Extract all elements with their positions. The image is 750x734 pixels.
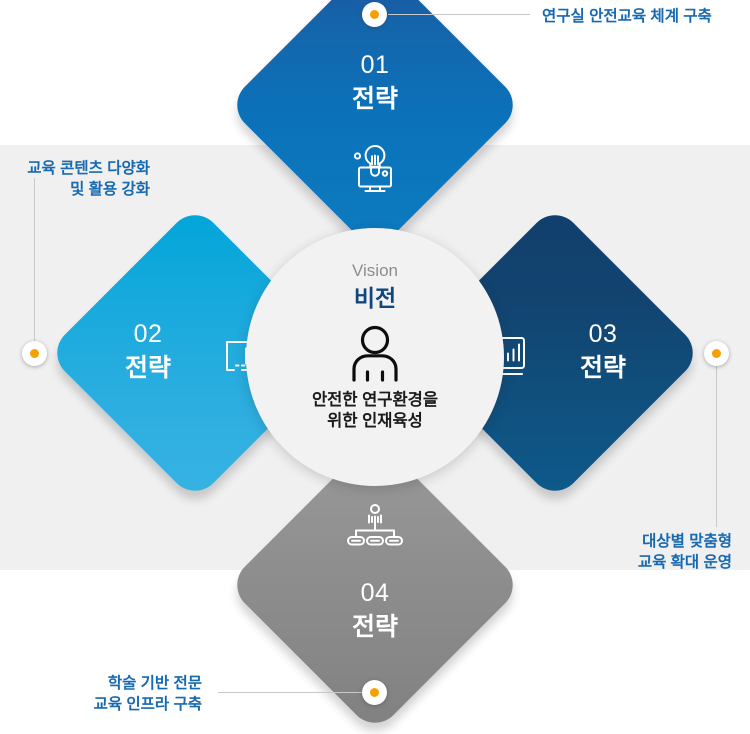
callout-02-line2: 및 활용 강화 bbox=[18, 179, 150, 200]
person-icon bbox=[347, 324, 403, 384]
callout-strategy-01: 연구실 안전교육 체계 구축 bbox=[542, 6, 712, 27]
vision-description-line2: 위한 인재육성 bbox=[312, 411, 438, 432]
connector-line-04 bbox=[218, 692, 366, 693]
connector-line-02 bbox=[34, 178, 35, 346]
strategy-diamond-04[interactable]: 04 전략 bbox=[270, 480, 480, 690]
vision-description: 안전한 연구환경을 위한 인재육성 bbox=[312, 390, 438, 432]
strategy-diagram: 01 전략 02 전략 bbox=[0, 0, 750, 720]
callout-03-line1: 대상별 맞춤형 bbox=[602, 531, 732, 552]
callout-04-line2: 교육 인프라 구축 bbox=[80, 694, 202, 715]
connector-line-01 bbox=[388, 14, 530, 15]
callout-strategy-03: 대상별 맞춤형 교육 확대 운영 bbox=[602, 531, 732, 574]
vision-label-en: Vision bbox=[352, 262, 398, 279]
connector-dot-03[interactable] bbox=[704, 341, 729, 366]
vision-description-line1: 안전한 연구환경을 bbox=[312, 390, 438, 411]
connector-line-03 bbox=[716, 362, 717, 527]
callout-01-line1: 연구실 안전교육 체계 구축 bbox=[542, 6, 712, 27]
connector-dot-02[interactable] bbox=[22, 341, 47, 366]
connector-dot-04[interactable] bbox=[362, 680, 387, 705]
callout-03-line2: 교육 확대 운영 bbox=[602, 552, 732, 573]
vision-circle[interactable]: Vision 비전 안전한 연구환경을 위한 인재육성 bbox=[246, 228, 504, 486]
connector-dot-01[interactable] bbox=[362, 2, 387, 27]
callout-02-line1: 교육 콘텐츠 다양화 bbox=[18, 158, 150, 179]
callout-strategy-02: 교육 콘텐츠 다양화 및 활용 강화 bbox=[18, 158, 150, 201]
callout-04-line1: 학술 기반 전문 bbox=[80, 673, 202, 694]
callout-strategy-04: 학술 기반 전문 교육 인프라 구축 bbox=[80, 673, 202, 716]
vision-label-ko: 비전 bbox=[354, 287, 396, 310]
strategy-diamond-01[interactable]: 01 전략 bbox=[270, 0, 480, 210]
